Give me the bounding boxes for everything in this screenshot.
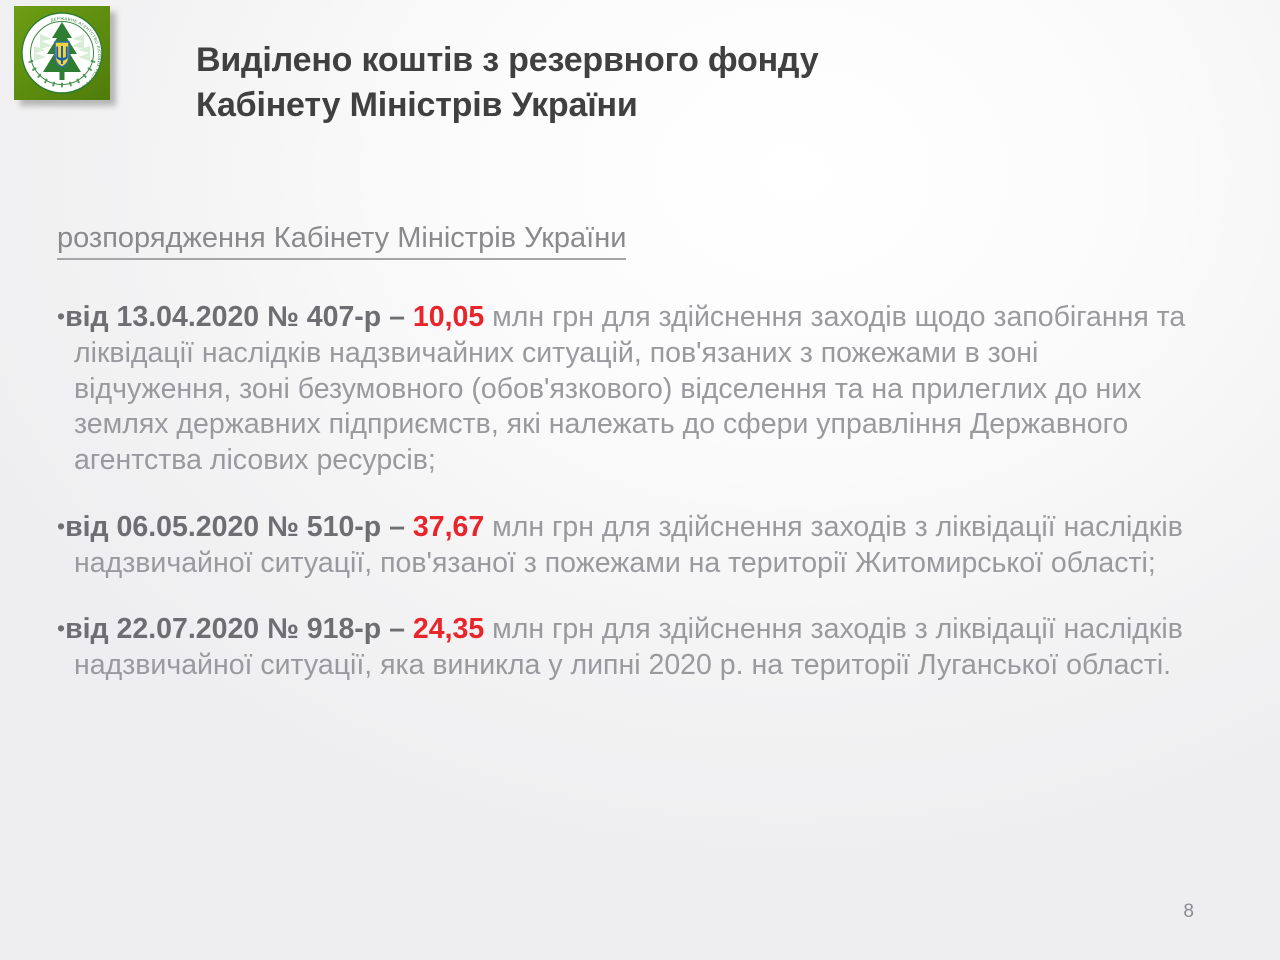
list-item: •від 13.04.2020 № 407-р – 10,05 млн грн … — [57, 300, 1192, 479]
bullet-lead-3: від 22.07.2020 № 918-р – — [65, 613, 413, 645]
bullet-list: •від 13.04.2020 № 407-р – 10,05 млн грн … — [57, 300, 1192, 684]
forestry-agency-emblem-icon: ДЕРЖАВНЕ АГЕНТСТВО ЛІСОВИХ РЕСУРСІВ УКРА… — [14, 6, 110, 100]
bullet-amount-2: 37,67 — [413, 511, 484, 543]
page-number: 8 — [1183, 901, 1194, 923]
organization-logo: ДЕРЖАВНЕ АГЕНТСТВО ЛІСОВИХ РЕСУРСІВ УКРА… — [14, 6, 116, 106]
bullet-amount-3: 24,35 — [413, 613, 484, 645]
bullet-amount-1: 10,05 — [413, 301, 484, 333]
logo-square: ДЕРЖАВНЕ АГЕНТСТВО ЛІСОВИХ РЕСУРСІВ УКРА… — [14, 6, 110, 100]
page-title: Виділено коштів з резервного фонду Кабін… — [196, 38, 1056, 127]
bullet-lead-2: від 06.05.2020 № 510-р – — [65, 511, 413, 543]
bullet-dot: • — [57, 513, 65, 539]
page-title-line-2: Кабінету Міністрів України — [196, 83, 1056, 128]
list-item: •від 22.07.2020 № 918-р – 24,35 млн грн … — [57, 612, 1192, 684]
section-subtitle: розпорядження Кабінету Міністрів України — [57, 222, 626, 260]
bullet-dot: • — [57, 303, 65, 329]
page-title-line-1: Виділено коштів з резервного фонду — [196, 38, 1056, 83]
slide-canvas: ДЕРЖАВНЕ АГЕНТСТВО ЛІСОВИХ РЕСУРСІВ УКРА… — [0, 0, 1280, 960]
bullet-lead-1: від 13.04.2020 № 407-р – — [65, 301, 413, 333]
list-item: •від 06.05.2020 № 510-р – 37,67 млн грн … — [57, 510, 1192, 582]
bullet-dot: • — [57, 615, 65, 641]
